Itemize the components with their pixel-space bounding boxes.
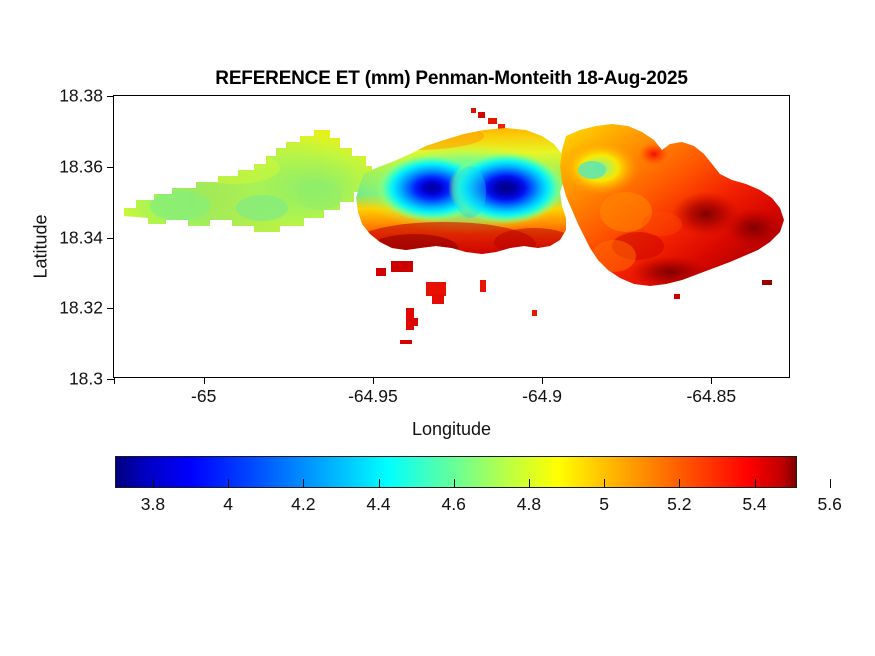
- colorbar-label-9: 5.6: [818, 494, 842, 515]
- y-tick-label-2: 18.34: [59, 227, 103, 248]
- y-tick-label-4: 18.38: [59, 86, 103, 107]
- y-axis-label: Latitude: [31, 187, 52, 307]
- y-tick-0: [107, 379, 114, 380]
- x-tick-2: [542, 377, 543, 384]
- y-tick-2: [107, 238, 114, 239]
- colorbar-label-1: 4: [223, 494, 233, 515]
- colorbar-gradient: [115, 456, 797, 488]
- x-axis-label: Longitude: [113, 419, 790, 440]
- y-tick-1: [107, 308, 114, 309]
- colorbar-label-3: 4.4: [366, 494, 390, 515]
- et-contour-map: [114, 96, 789, 377]
- x-tick-0: [204, 377, 205, 384]
- colorbar-tick-5: [529, 479, 530, 488]
- colorbar-tick-3: [379, 479, 380, 488]
- page-title: REFERENCE ET (mm) Penman-Monteith 18-Aug…: [113, 68, 790, 90]
- x-tick-label-2: -64.9: [522, 386, 562, 407]
- colorbar-tick-7: [679, 479, 680, 488]
- colorbar-tick-1: [228, 479, 229, 488]
- colorbar-label-8: 5.4: [742, 494, 766, 515]
- plot-axes: 18.3 18.32 18.34 18.36 18.38 -65 -64.95 …: [113, 95, 790, 378]
- y-tick-label-3: 18.36: [59, 156, 103, 177]
- colorbar-tick-8: [755, 479, 756, 488]
- x-tick-3: [711, 377, 712, 384]
- colorbar-tick-2: [303, 479, 304, 488]
- colorbar: 3.8 4 4.2 4.4 4.6 4.8 5 5.2 5.4 5.6: [115, 456, 797, 488]
- colorbar-tick-0: [153, 479, 154, 488]
- colorbar-tick-4: [454, 479, 455, 488]
- figure-canvas: REFERENCE ET (mm) Penman-Monteith 18-Aug…: [0, 0, 875, 656]
- y-tick-label-0: 18.3: [69, 369, 103, 390]
- x-tick-label-1: -64.95: [348, 386, 398, 407]
- colorbar-label-7: 5.2: [667, 494, 691, 515]
- x-tick-1b: [373, 377, 374, 384]
- colorbar-label-5: 4.8: [517, 494, 541, 515]
- colorbar-tick-9: [830, 479, 831, 488]
- x-tick-label-0: -65: [191, 386, 216, 407]
- colorbar-tick-6: [604, 479, 605, 488]
- y-tick-3: [107, 167, 114, 168]
- y-tick-label-1: 18.32: [59, 298, 103, 319]
- colorbar-label-2: 4.2: [291, 494, 315, 515]
- colorbar-label-6: 5: [599, 494, 609, 515]
- colorbar-label-0: 3.8: [141, 494, 165, 515]
- x-tick-label-3: -64.85: [686, 386, 736, 407]
- x-tick-1: [114, 377, 115, 384]
- y-tick-4: [107, 96, 114, 97]
- map-canvas: [114, 96, 789, 377]
- colorbar-label-4: 4.6: [442, 494, 466, 515]
